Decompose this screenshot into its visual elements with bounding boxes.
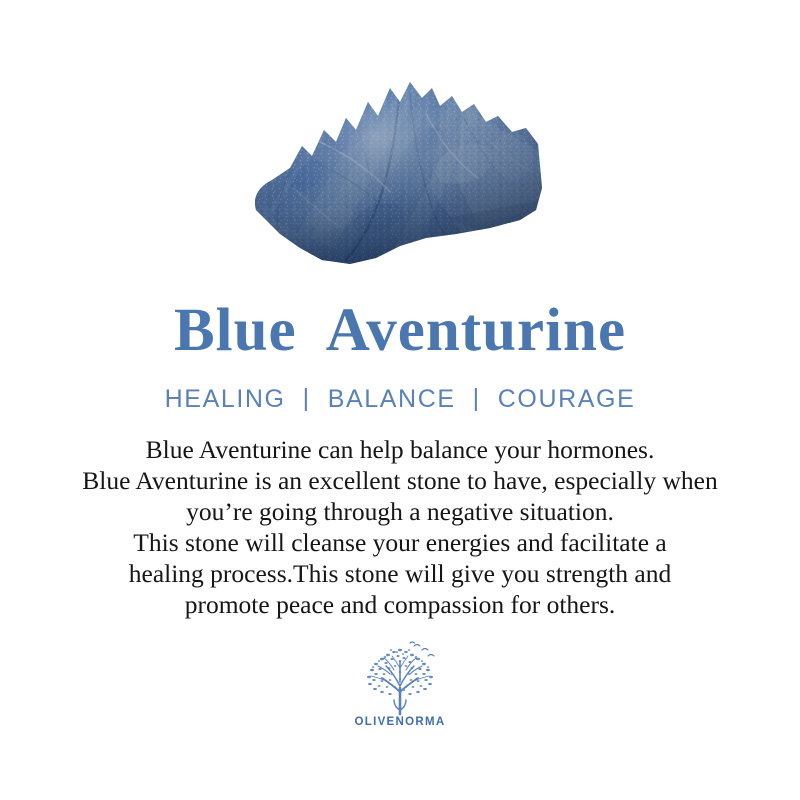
brand-wordmark: OLIVENORMA [355,717,446,729]
keyword-separator: | [303,386,311,411]
description-line: Blue Aventurine can help balance your ho… [20,434,780,465]
keyword-separator: | [473,386,481,411]
description-line: healing process.This stone will give you… [20,558,780,589]
keyword-healing: HEALING [165,387,286,412]
description-line: Blue Aventurine is an excellent stone to… [20,465,780,496]
description-line: This stone will cleanse your energies an… [20,527,780,558]
stone-info-card: Blue Aventurine HEALING | BALANCE | COUR… [0,0,800,800]
keyword-balance: BALANCE [328,387,456,412]
description-text: Blue Aventurine can help balance your ho… [20,434,780,620]
keyword-list: HEALING | BALANCE | COURAGE [165,387,636,412]
page-title: Blue Aventurine [174,300,626,361]
stone-image-area [0,0,800,300]
olive-tree-icon [354,640,446,716]
description-line: promote peace and compassion for others. [20,589,780,620]
stone-image-wrap [250,68,550,268]
brand-logo: OLIVENORMA [354,640,446,729]
keyword-courage: COURAGE [498,387,636,412]
blue-aventurine-stone-icon [250,68,550,268]
description-line: you’re going through a negative situatio… [20,496,780,527]
